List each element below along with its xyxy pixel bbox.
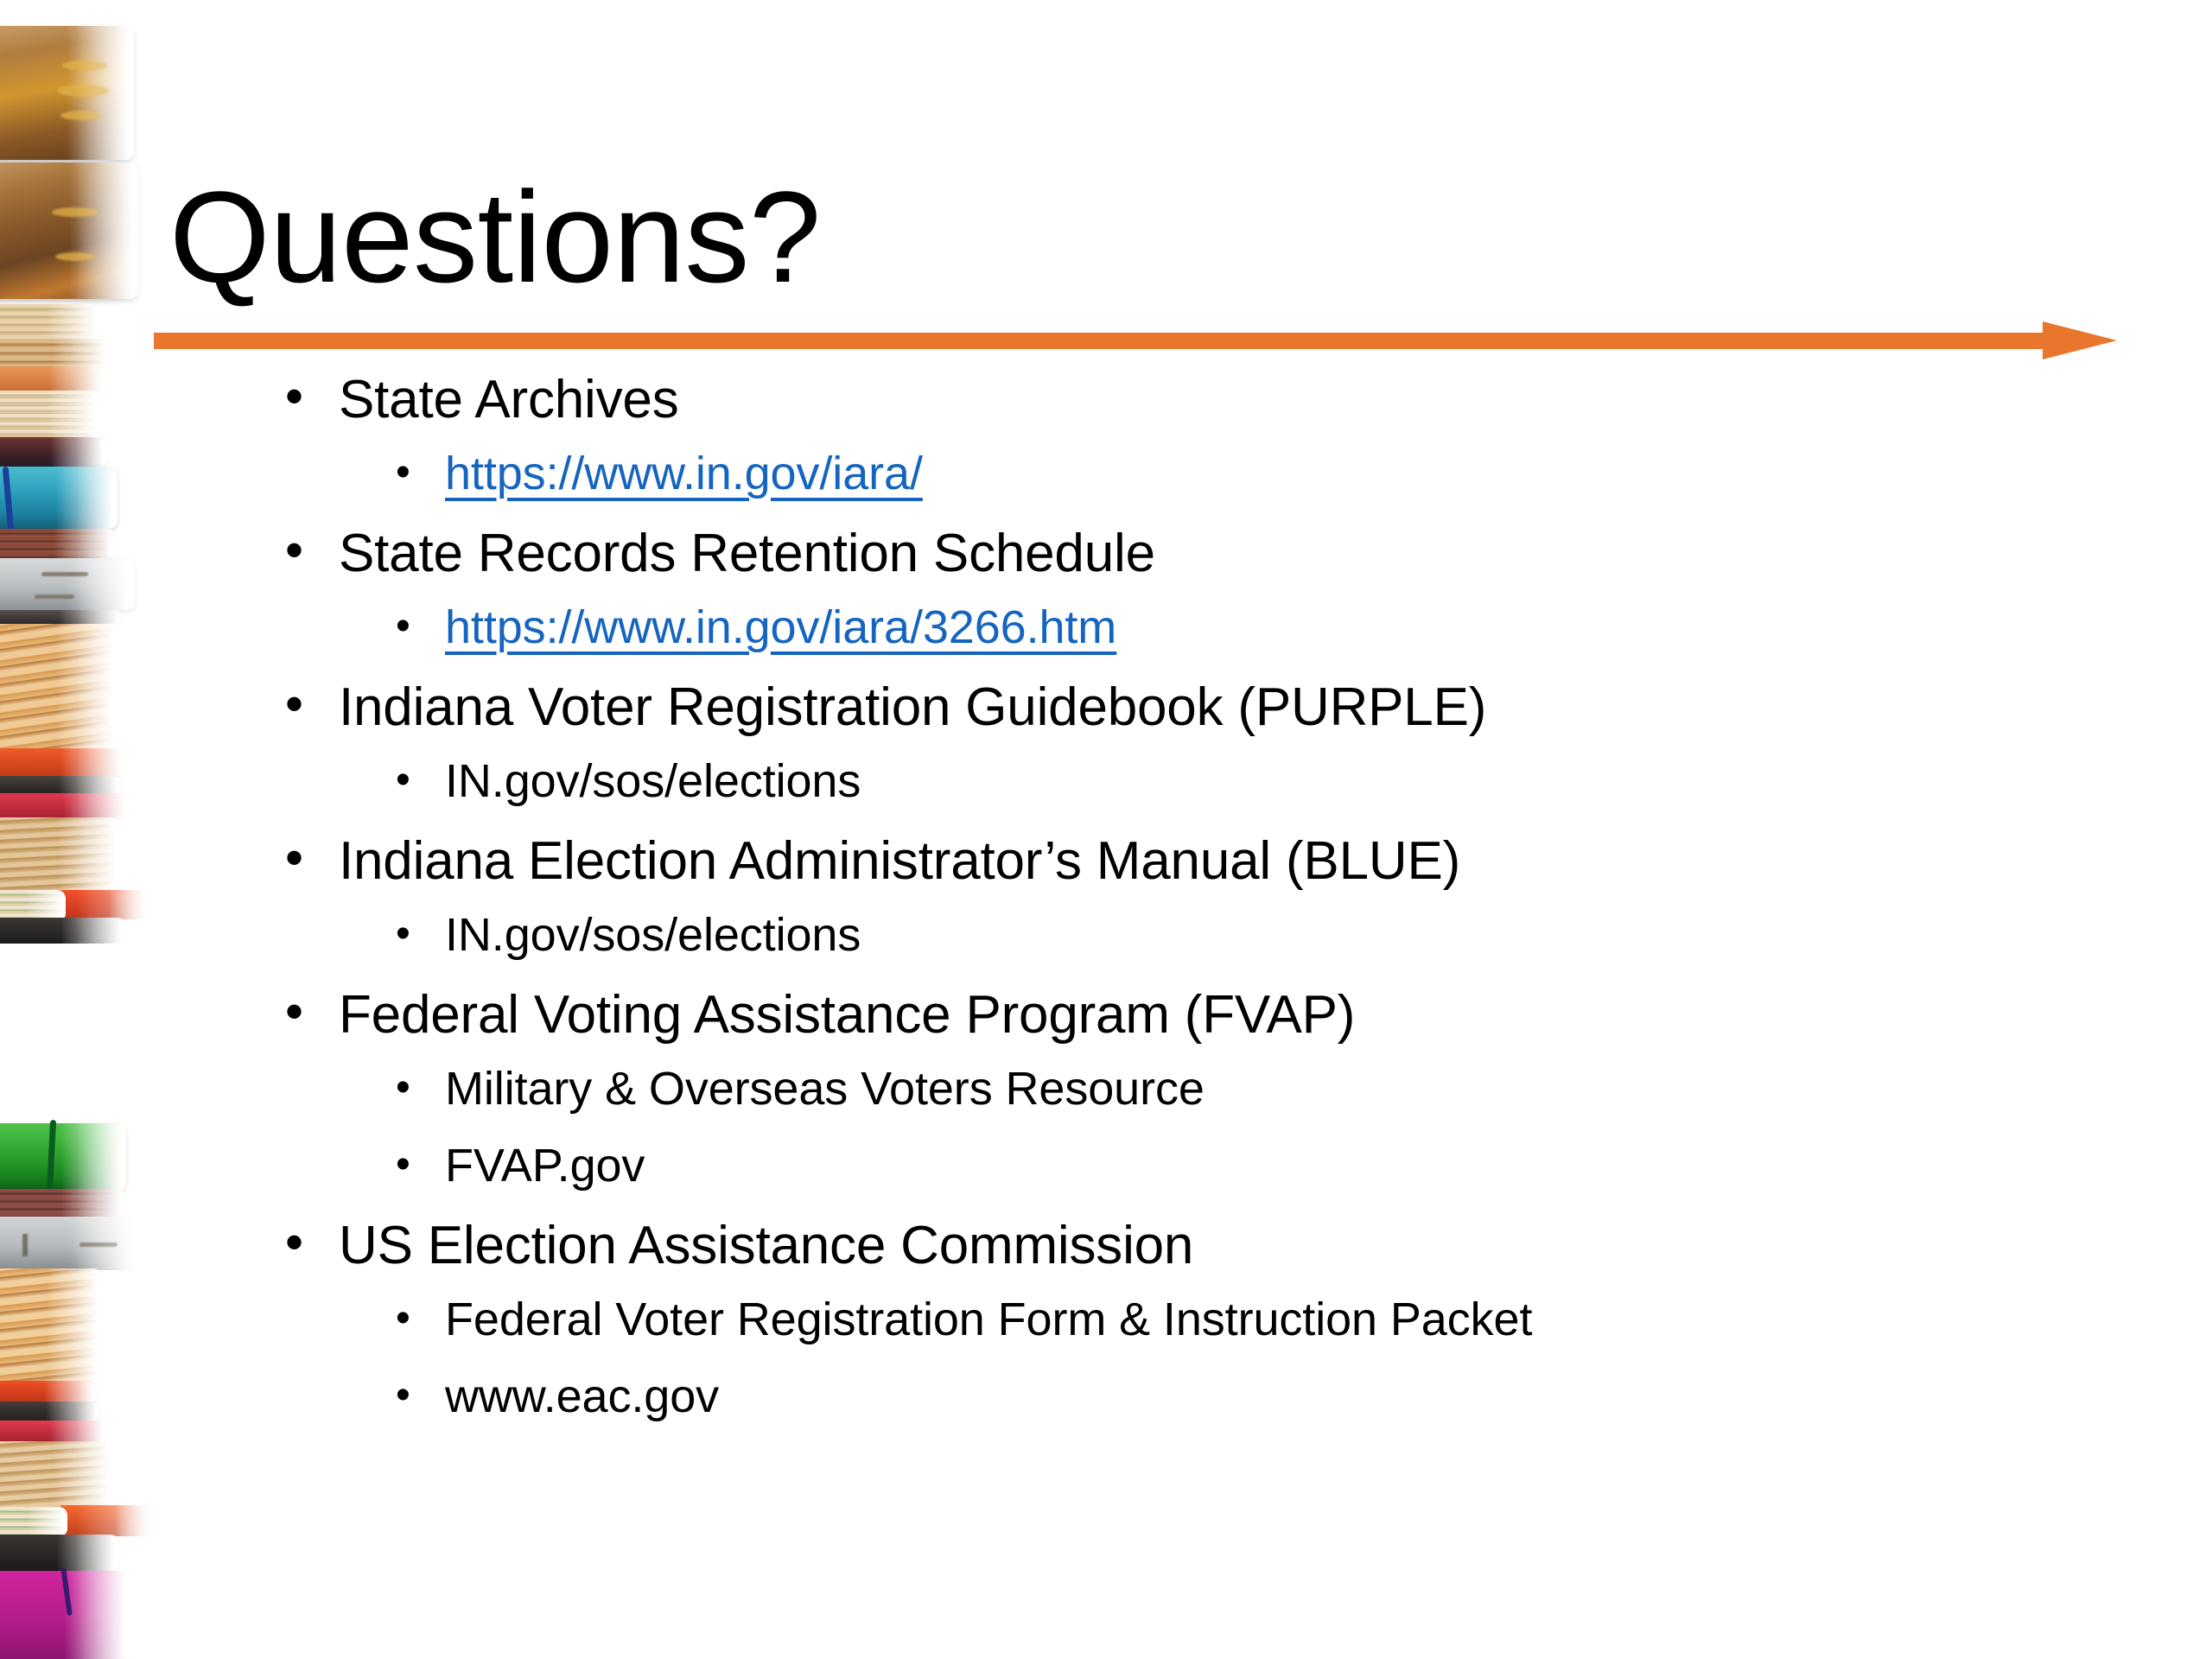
arrow-shaft xyxy=(154,333,2046,349)
bullet-marker-icon: • xyxy=(396,1375,445,1416)
folder-orange-2 xyxy=(60,1505,154,1536)
list-item[interactable]: •https://www.in.gov/iara/ xyxy=(0,450,2212,527)
hyperlink[interactable]: https://www.in.gov/iara/3266.htm xyxy=(445,604,1116,651)
list-item-label: Indiana Election Administrator’s Manual … xyxy=(339,835,1460,888)
paper-bundle-tan-2 xyxy=(0,1441,114,1521)
bullet-marker-icon: • xyxy=(285,678,339,730)
bullet-marker-icon: • xyxy=(396,760,445,801)
bullet-marker-icon: • xyxy=(285,524,339,576)
binding-cord-purple xyxy=(60,1567,73,1616)
list-item-label: www.eac.gov xyxy=(445,1373,719,1420)
list-item: •Indiana Election Administrator’s Manual… xyxy=(0,835,2212,912)
bullet-marker-icon: • xyxy=(396,452,445,493)
right-arrow-icon xyxy=(2043,321,2117,359)
list-item-label: Federal Voting Assistance Program (FVAP) xyxy=(339,988,1355,1042)
list-item: •State Archives xyxy=(0,373,2212,450)
list-item: •Indiana Voter Registration Guidebook (P… xyxy=(0,681,2212,758)
hyperlink[interactable]: https://www.in.gov/iara/ xyxy=(445,450,923,497)
book-spine-magenta xyxy=(0,1571,131,1659)
slide-canvas: Questions? •State Archives•https://www.i… xyxy=(0,0,2212,1659)
bullet-marker-icon: • xyxy=(285,1217,339,1268)
bullet-marker-icon: • xyxy=(396,606,445,647)
paper-bundle-manila-1 xyxy=(0,304,100,339)
list-item-label: Indiana Voter Registration Guidebook (PU… xyxy=(339,681,1486,734)
page-title: Questions? xyxy=(169,169,1811,304)
bullet-list: •State Archives•https://www.in.gov/iara/… xyxy=(0,373,2212,1450)
list-item: •US Election Assistance Commission xyxy=(0,1219,2212,1296)
list-item-label: IN.gov/sos/elections xyxy=(445,912,861,958)
list-item-label: US Election Assistance Commission xyxy=(339,1219,1193,1273)
bullet-marker-icon: • xyxy=(396,1144,445,1185)
bullet-marker-icon: • xyxy=(285,371,339,423)
list-item: •Federal Voter Registration Form & Instr… xyxy=(0,1296,2212,1373)
divider-arrow xyxy=(154,321,2117,363)
list-item-label: FVAP.gov xyxy=(445,1142,645,1189)
bullet-marker-icon: • xyxy=(396,1298,445,1339)
book-spine-leather-second xyxy=(0,162,138,299)
bullet-marker-icon: • xyxy=(396,1067,445,1109)
list-item-label: State Records Retention Schedule xyxy=(339,527,1155,581)
list-item-label: State Archives xyxy=(339,373,679,427)
list-item: •State Records Retention Schedule xyxy=(0,527,2212,604)
shadow-band-5 xyxy=(0,1535,119,1573)
list-item: •www.eac.gov xyxy=(0,1373,2212,1450)
list-item: •IN.gov/sos/elections xyxy=(0,758,2212,835)
paper-bundle-manila-2 xyxy=(0,339,111,368)
list-item: •FVAP.gov xyxy=(0,1142,2212,1219)
list-item-label: Federal Voter Registration Form & Instru… xyxy=(445,1296,1532,1343)
book-spine-leather-top xyxy=(0,26,134,160)
bullet-marker-icon: • xyxy=(285,832,339,884)
list-item-label: IN.gov/sos/elections xyxy=(445,758,861,804)
list-item: •IN.gov/sos/elections xyxy=(0,912,2212,988)
list-item[interactable]: •https://www.in.gov/iara/3266.htm xyxy=(0,604,2212,681)
bullet-marker-icon: • xyxy=(396,913,445,955)
list-item: •Military & Overseas Voters Resource xyxy=(0,1065,2212,1142)
paper-bundle-tabs-2 xyxy=(0,1507,67,1536)
list-item-label: Military & Overseas Voters Resource xyxy=(445,1065,1205,1112)
bullet-marker-icon: • xyxy=(285,986,339,1038)
list-item: •Federal Voting Assistance Program (FVAP… xyxy=(0,988,2212,1065)
